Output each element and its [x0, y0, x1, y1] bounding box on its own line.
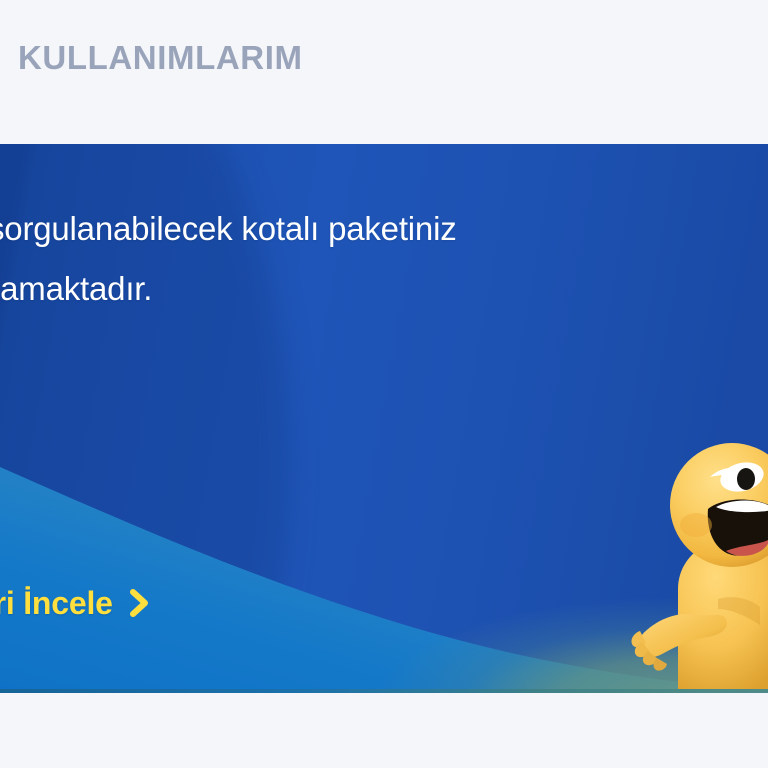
page-header: KULLANIMLARIM	[0, 0, 768, 144]
banner-body-line-1: sorgulanabilecek kotalı paketiniz	[0, 209, 457, 249]
page-content-area	[0, 693, 768, 768]
banner-cta-link[interactable]: eri İncele	[0, 580, 151, 626]
promo-banner[interactable]: sorgulanabilecek kotalı paketiniz namakt…	[0, 144, 768, 693]
chevron-right-icon	[129, 588, 151, 618]
banner-cta-label: eri İncele	[0, 580, 113, 626]
page-title: KULLANIMLARIM	[18, 38, 303, 78]
page-root: KULLANIMLARIM	[0, 0, 768, 768]
banner-body-line-2: namaktadır.	[0, 269, 152, 309]
